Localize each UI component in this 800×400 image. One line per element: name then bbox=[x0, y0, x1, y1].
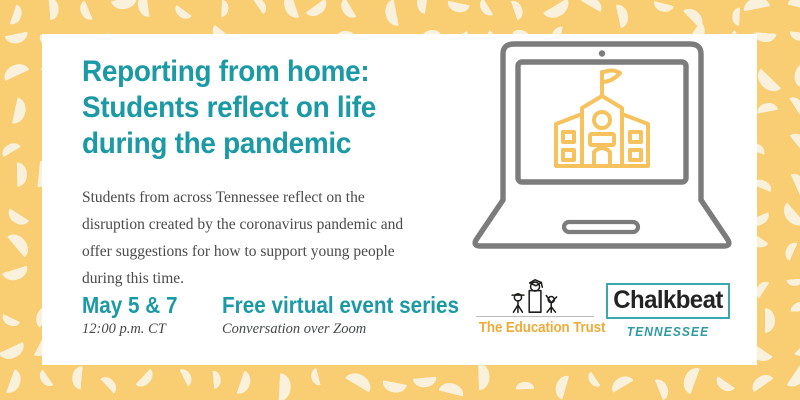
poster-canvas: Reporting from home: Students reflect on… bbox=[0, 0, 800, 400]
pattern-squiggle bbox=[17, 162, 27, 187]
pattern-squiggle bbox=[543, 0, 573, 23]
pattern-squiggle bbox=[252, 0, 269, 14]
pattern-squiggle bbox=[742, 0, 770, 12]
event-series-title: Free virtual event series bbox=[222, 293, 459, 317]
pattern-squiggle bbox=[753, 68, 781, 96]
pattern-squiggle bbox=[237, 371, 254, 397]
pattern-squiggle bbox=[7, 229, 33, 257]
pattern-squiggle bbox=[180, 367, 195, 387]
pattern-squiggle bbox=[446, 1, 470, 15]
students-graduation-cap-icon bbox=[504, 278, 567, 314]
pattern-squiggle bbox=[510, 0, 524, 20]
pattern-squiggle bbox=[48, 0, 59, 20]
logo-divider-rule bbox=[476, 316, 594, 317]
pattern-squiggle bbox=[755, 102, 777, 115]
pattern-squiggle bbox=[416, 0, 429, 14]
pattern-squiggle bbox=[0, 140, 20, 158]
pattern-squiggle bbox=[77, 1, 93, 23]
pattern-squiggle bbox=[278, 373, 291, 400]
pattern-squiggle bbox=[137, 0, 150, 18]
pattern-squiggle bbox=[0, 314, 20, 329]
pattern-squiggle bbox=[790, 302, 800, 313]
pattern-squiggle bbox=[2, 266, 30, 284]
pattern-squiggle bbox=[655, 376, 671, 400]
pattern-squiggle bbox=[212, 370, 221, 389]
pattern-squiggle bbox=[789, 94, 800, 115]
pattern-squiggle bbox=[732, 7, 740, 26]
pattern-squiggle bbox=[680, 365, 700, 394]
pattern-squiggle bbox=[338, 0, 357, 21]
pattern-squiggle bbox=[305, 0, 330, 20]
pattern-squiggle bbox=[477, 0, 494, 19]
pattern-squiggle bbox=[779, 203, 800, 231]
pattern-squiggle bbox=[221, 0, 229, 17]
education-trust-logo: The Education Trust bbox=[474, 278, 596, 336]
pattern-squiggle bbox=[5, 32, 29, 46]
pattern-squiggle bbox=[787, 362, 800, 391]
pattern-squiggle bbox=[439, 380, 466, 396]
pattern-squiggle bbox=[381, 380, 407, 394]
pattern-squiggle bbox=[72, 366, 84, 390]
chalkbeat-wordmark: Chalkbeat bbox=[610, 286, 725, 315]
event-platform: Conversation over Zoom bbox=[222, 322, 485, 338]
pattern-squiggle bbox=[12, 98, 28, 126]
pattern-squiggle bbox=[749, 371, 774, 393]
pattern-squiggle bbox=[1, 60, 29, 81]
pattern-squiggle bbox=[553, 373, 569, 399]
event-dates: May 5 & 7 bbox=[82, 293, 208, 317]
pattern-squiggle bbox=[5, 208, 29, 228]
event-series-block: Free virtual event series Conversation o… bbox=[222, 293, 485, 338]
pattern-squiggle bbox=[111, 0, 139, 11]
pattern-squiggle bbox=[100, 374, 119, 394]
pattern-squiggle bbox=[789, 129, 800, 156]
school-building-icon bbox=[556, 71, 648, 167]
pattern-squiggle bbox=[652, 1, 674, 14]
description-paragraph: Students from across Tennessee reflect o… bbox=[82, 184, 474, 293]
pattern-squiggle bbox=[345, 369, 375, 393]
pattern-squiggle bbox=[609, 372, 634, 393]
pattern-squiggle bbox=[516, 382, 535, 390]
pattern-squiggle bbox=[36, 370, 53, 390]
pattern-squiggle bbox=[791, 171, 800, 197]
laptop-with-school-icon bbox=[462, 24, 742, 266]
pattern-squiggle bbox=[585, 372, 600, 390]
pattern-squiggle bbox=[136, 369, 157, 391]
pattern-squiggle bbox=[478, 363, 490, 391]
page-title: Reporting from home: Students reflect on… bbox=[82, 54, 454, 162]
pattern-squiggle bbox=[783, 241, 798, 262]
pattern-squiggle bbox=[383, 0, 399, 28]
pattern-squiggle bbox=[789, 31, 800, 41]
pattern-squiggle bbox=[786, 278, 800, 286]
pattern-squiggle bbox=[790, 58, 800, 87]
chalkbeat-box: Chalkbeat bbox=[606, 283, 730, 319]
pattern-squiggle bbox=[714, 376, 736, 395]
pattern-squiggle bbox=[309, 368, 320, 387]
pattern-squiggle bbox=[6, 370, 24, 397]
pattern-squiggle bbox=[765, 308, 775, 333]
event-details: May 5 & 7 12:00 p.m. CT Free virtual eve… bbox=[82, 293, 485, 338]
chalkbeat-state-label: TENNESSEE bbox=[611, 324, 725, 339]
education-trust-wordmark: The Education Trust bbox=[479, 320, 591, 336]
chalkbeat-logo: Chalkbeat TENNESSEE bbox=[606, 283, 730, 339]
pattern-squiggle bbox=[9, 4, 24, 26]
pattern-squiggle bbox=[794, 340, 800, 360]
pattern-squiggle bbox=[281, 0, 299, 20]
pattern-squiggle bbox=[172, 5, 192, 22]
text-column: Reporting from home: Students reflect on… bbox=[82, 54, 482, 293]
event-time: 12:00 p.m. CT bbox=[82, 322, 222, 338]
pattern-squiggle bbox=[581, 0, 605, 12]
event-date-block: May 5 & 7 12:00 p.m. CT bbox=[82, 293, 222, 338]
pattern-squiggle bbox=[0, 342, 27, 363]
pattern-squiggle bbox=[413, 376, 437, 388]
pattern-squiggle bbox=[788, 0, 800, 11]
